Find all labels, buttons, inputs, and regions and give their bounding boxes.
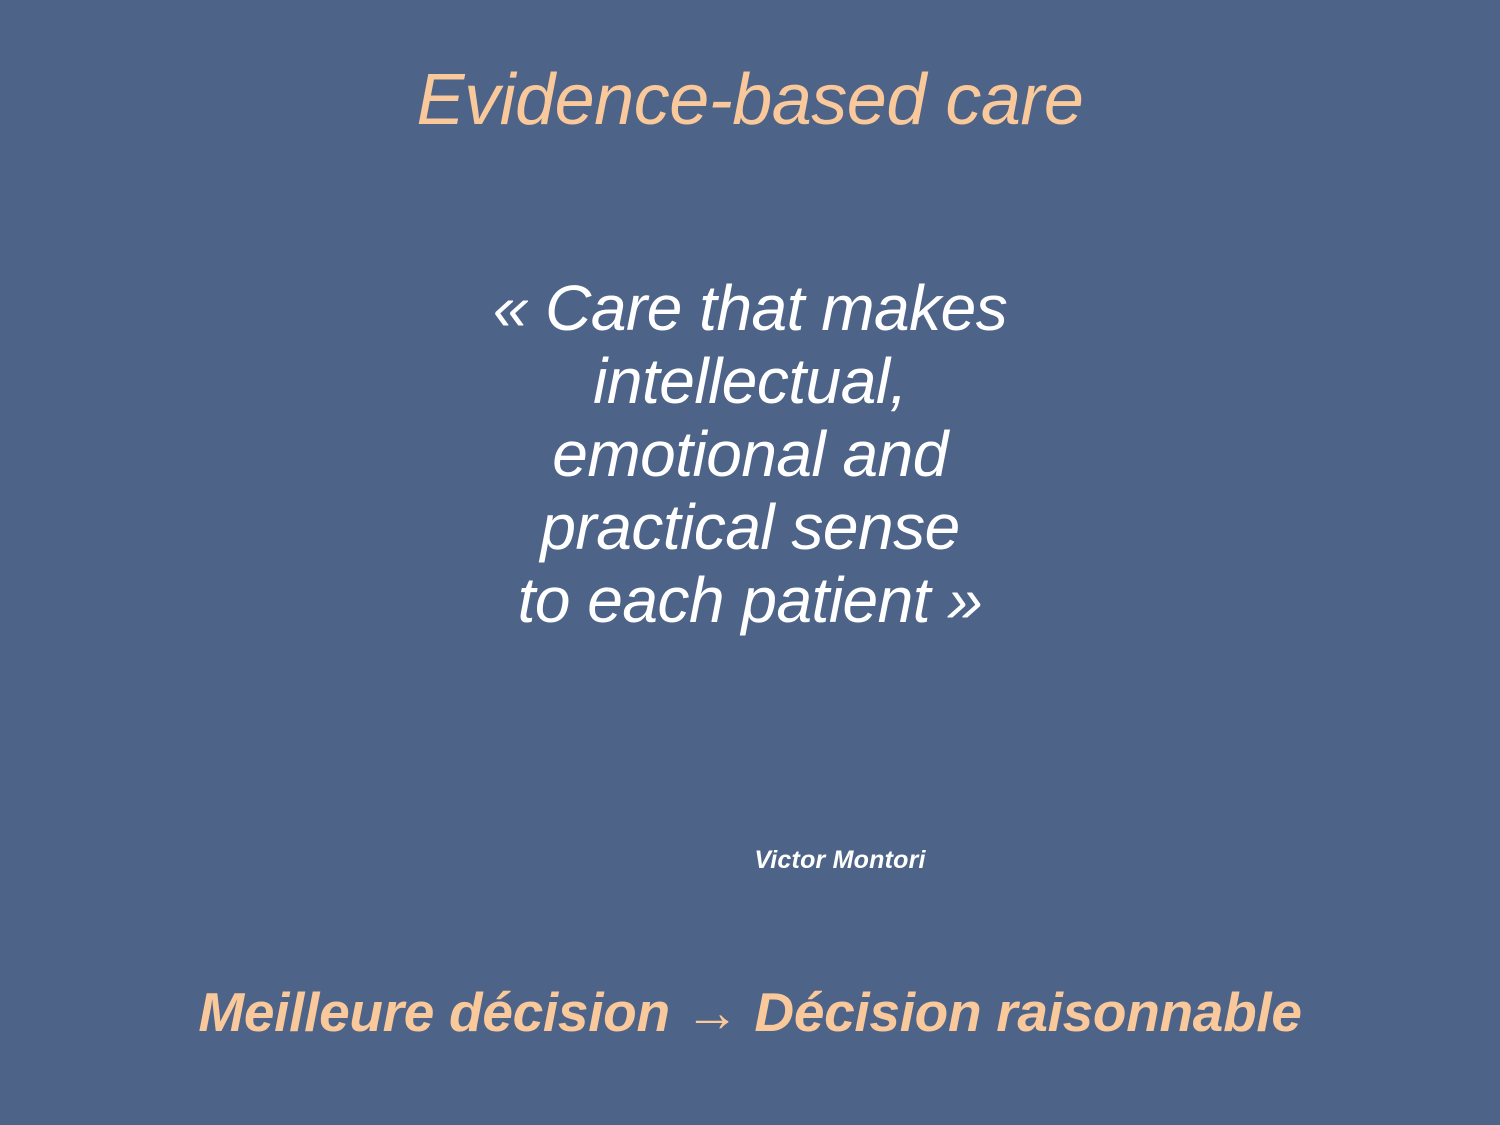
quote-line-5: to each patient » xyxy=(250,564,1250,637)
slide: Evidence-based care « Care that makes in… xyxy=(0,0,1500,1125)
quote-line-4: practical sense xyxy=(250,491,1250,564)
quote-attribution: Victor Montori xyxy=(0,846,1500,875)
quote-block: « Care that makes intellectual, emotiona… xyxy=(250,272,1250,637)
quote-line-1: « Care that makes xyxy=(250,272,1250,345)
quote-line-2: intellectual, xyxy=(250,345,1250,418)
page-title: Evidence-based care xyxy=(0,62,1500,140)
bottom-statement: Meilleure décision → Décision raisonnabl… xyxy=(0,980,1500,1044)
quote-line-3: emotional and xyxy=(250,418,1250,491)
